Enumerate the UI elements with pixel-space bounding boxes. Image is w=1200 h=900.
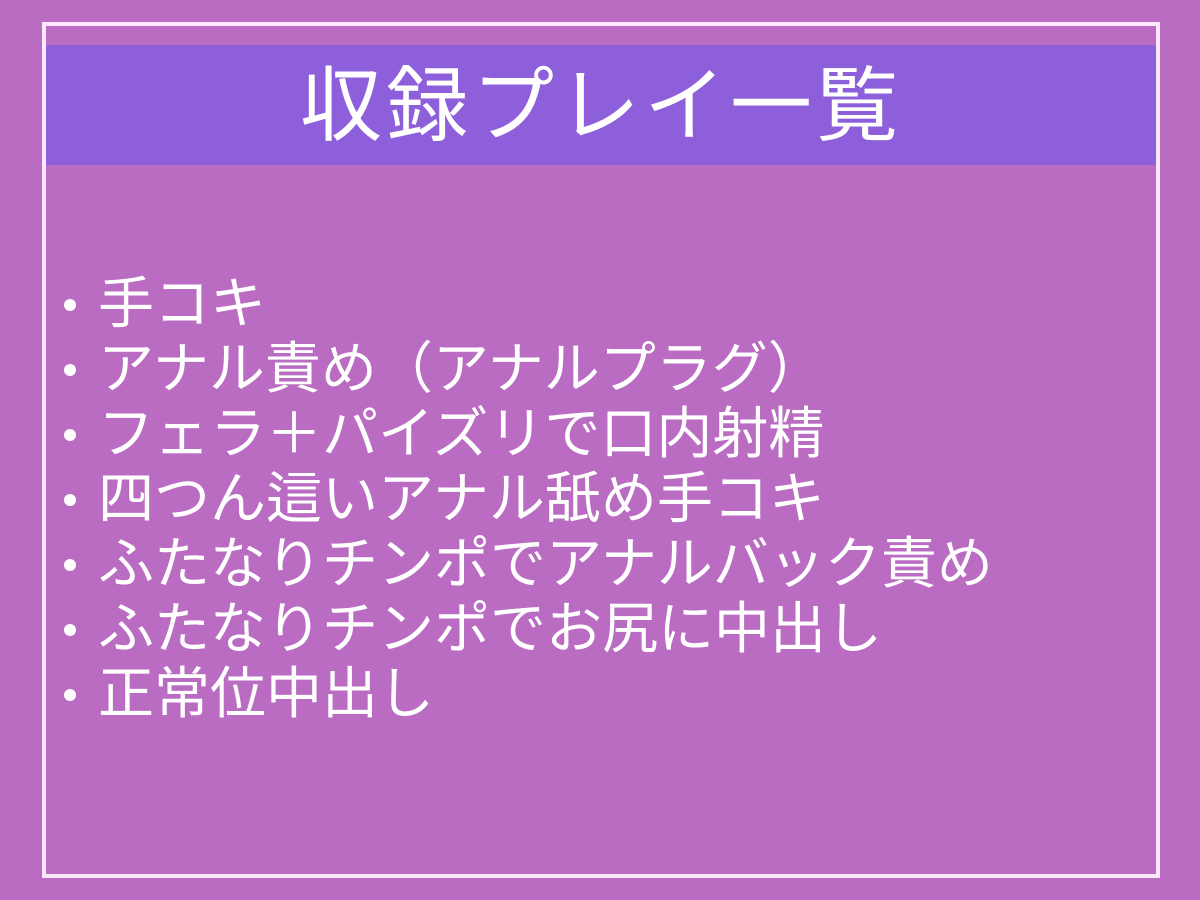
list-item: 正常位中出し xyxy=(56,662,1156,727)
list-item: フェラ＋パイズリで口内射精 xyxy=(56,402,1156,467)
bullet-dot-icon xyxy=(64,494,76,506)
bullet-dot-icon xyxy=(64,429,76,441)
page-title: 収録プレイ一覧 xyxy=(300,66,902,148)
list-item: 手コキ xyxy=(56,272,1156,337)
list-item-label: ふたなりチンポでお尻に中出し xyxy=(98,601,882,658)
list-item: 四つん這いアナル舐め手コキ xyxy=(56,467,1156,532)
bullet-dot-icon xyxy=(64,299,76,311)
list-item-label: アナル責め（アナルプラグ） xyxy=(98,341,824,398)
list-item-label: ふたなりチンポでアナルバック責め xyxy=(98,536,993,593)
bullet-dot-icon xyxy=(64,689,76,701)
slide-canvas: 収録プレイ一覧 手コキ アナル責め（アナルプラグ） フェラ＋パイズリで口内射精 … xyxy=(0,0,1200,900)
list-item-label: 四つん這いアナル舐め手コキ xyxy=(98,471,825,528)
list-item-label: 手コキ xyxy=(98,276,266,333)
list-item: ふたなりチンポでアナルバック責め xyxy=(56,532,1156,597)
bullet-dot-icon xyxy=(64,364,76,376)
title-banner: 収録プレイ一覧 xyxy=(46,45,1156,165)
list-item: アナル責め（アナルプラグ） xyxy=(56,337,1156,402)
bullet-dot-icon xyxy=(64,624,76,636)
list-item-label: 正常位中出し xyxy=(98,666,434,723)
play-list: 手コキ アナル責め（アナルプラグ） フェラ＋パイズリで口内射精 四つん這いアナル… xyxy=(56,272,1156,727)
list-item-label: フェラ＋パイズリで口内射精 xyxy=(98,406,824,463)
bullet-dot-icon xyxy=(64,559,76,571)
list-item: ふたなりチンポでお尻に中出し xyxy=(56,597,1156,662)
